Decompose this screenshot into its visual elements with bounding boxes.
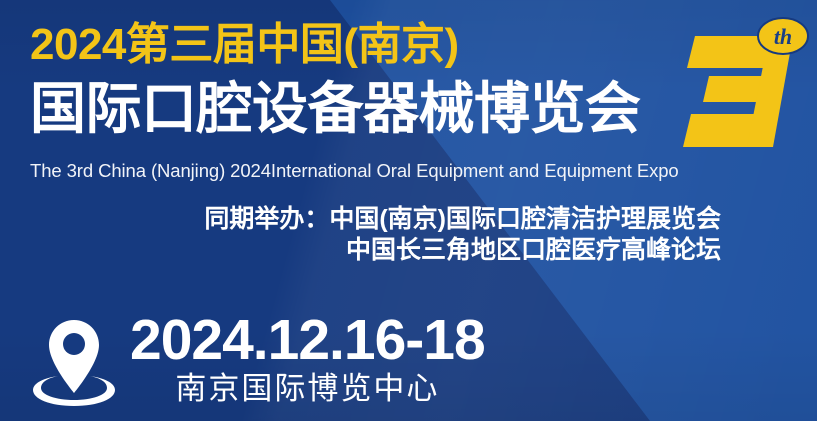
event-date-venue-block: 2024.12.16-18 南京国际博览中心 — [30, 310, 485, 407]
event-venue: 南京国际博览中心 — [130, 371, 485, 407]
concurrent-event-line-2: 中国长三角地区口腔医疗高峰论坛 — [0, 235, 721, 266]
anniversary-logo-mark: th — [665, 14, 815, 164]
date-venue-text: 2024.12.16-18 南京国际博览中心 — [130, 310, 485, 407]
poster-subtitle-english: The 3rd China (Nanjing) 2024Internationa… — [30, 159, 679, 183]
location-pin-icon — [30, 312, 118, 407]
event-date: 2024.12.16-18 — [130, 310, 485, 370]
poster-title-line-2: 国际口腔设备器械博览会 — [30, 78, 641, 140]
exhibition-poster-banner: th 2024第三届中国(南京) 国际口腔设备器械博览会 The 3rd Chi… — [0, 0, 817, 421]
logo-ordinal-text: th — [774, 24, 792, 49]
logo-ordinal-badge-icon: th — [758, 18, 808, 54]
poster-title-line-1: 2024第三届中国(南京) — [30, 21, 459, 69]
concurrent-event-line-1: 同期举办：中国(南京)国际口腔清洁护理展览会 — [0, 204, 721, 235]
concurrent-events-block: 同期举办：中国(南京)国际口腔清洁护理展览会 中国长三角地区口腔医疗高峰论坛 — [0, 204, 721, 266]
